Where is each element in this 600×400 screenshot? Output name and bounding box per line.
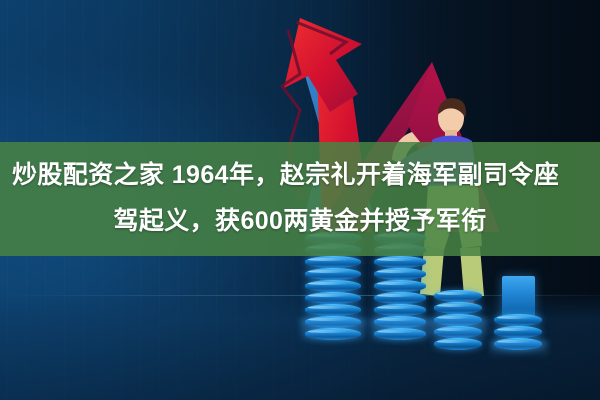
coin-stack-1-reflection: [300, 318, 366, 344]
coin-stack-4-reflection: [490, 340, 548, 358]
caption-line-2: 驾起义，获600两黄金并授予军衔: [0, 198, 600, 244]
caption-line-1: 炒股配资之家 1964年，赵宗礼开着海军副司令座: [0, 152, 600, 198]
coin-stack-3-reflection: [430, 318, 488, 344]
thumbnail-image: 炒股配资之家 1964年，赵宗礼开着海军副司令座 驾起义，获600两黄金并授予军…: [0, 0, 600, 400]
coin-stack-2-reflection: [370, 318, 432, 344]
